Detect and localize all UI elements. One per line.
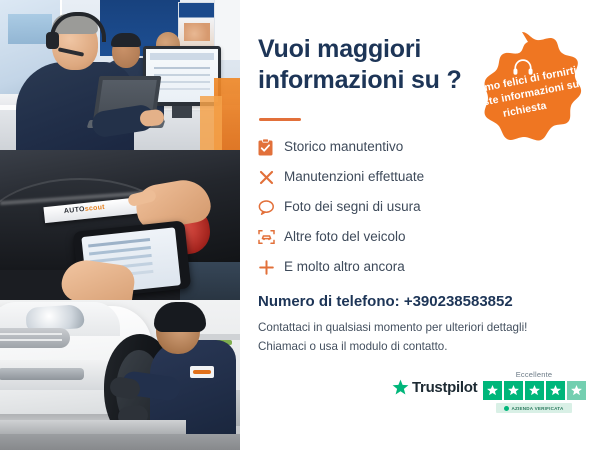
contact-instructions: Contattaci in qualsiasi momento per ulte… — [258, 319, 588, 357]
list-item-label: Foto dei segni di usura — [284, 200, 421, 214]
promo-banner: AUTOscout — [0, 0, 600, 450]
monitor-stand — [172, 106, 192, 118]
list-item: Altre foto del veicolo — [258, 222, 578, 252]
star-partial — [567, 381, 586, 400]
list-item-label: Storico manutentivo — [284, 140, 403, 154]
star-filled — [504, 381, 523, 400]
list-item-label: E molto altro ancora — [284, 260, 405, 274]
strip-brand-text: AUTOscout — [64, 204, 106, 215]
list-item: E molto altro ancora — [258, 252, 578, 282]
list-item-label: Manutenzioni effettuate — [284, 170, 424, 184]
workshop-floor — [0, 434, 240, 450]
scan-vehicle-icon — [258, 229, 284, 245]
list-item: Storico manutentivo — [258, 132, 578, 162]
list-item-label: Altre foto del veicolo — [284, 230, 406, 244]
contact-line-1: Contattaci in qualsiasi momento per ulte… — [258, 319, 588, 338]
plus-icon — [258, 259, 284, 276]
clipboard-check-icon — [258, 139, 284, 156]
list-item: Manutenzioni effettuate — [258, 162, 578, 192]
trustpilot-logo: Trustpilot — [392, 379, 477, 396]
list-item: Foto dei segni di usura — [258, 192, 578, 222]
verified-badge: AZIENDA VERIFICATA — [496, 403, 572, 413]
trustpilot-star-icon — [392, 379, 409, 396]
wall-poster — [178, 2, 216, 52]
trustpilot-wordmark: Trustpilot — [412, 379, 477, 396]
tools-cross-icon — [258, 169, 284, 186]
trustpilot-rating: Eccellente — [480, 370, 588, 413]
uniform-logo — [190, 366, 214, 378]
star-filled — [546, 381, 565, 400]
car-bumper — [0, 360, 118, 390]
star-filled — [483, 381, 502, 400]
feature-list: Storico manutentivo Manutenzioni effettu… — [258, 132, 578, 282]
page-title: Vuoi maggiori informazioni su ? — [258, 34, 473, 95]
speech-bubble-icon — [258, 200, 284, 215]
colleague-hair — [111, 33, 141, 47]
contact-line-2: Chiamaci o usa il modulo di contatto. — [258, 338, 588, 357]
content-panel: Vuoi maggiori informazioni su ? Saremo f… — [240, 0, 600, 450]
verified-label: AZIENDA VERIFICATA — [511, 406, 563, 411]
call-center-photo — [0, 0, 240, 150]
mechanic-hair — [154, 302, 206, 332]
headset-earcup — [46, 32, 59, 49]
star-filled — [525, 381, 544, 400]
trustpilot-widget[interactable]: Trustpilot Eccellente — [392, 370, 592, 422]
verified-check-icon — [504, 406, 509, 411]
vehicle-inspection-photo: AUTOscout — [0, 150, 240, 300]
title-divider — [259, 118, 301, 121]
mechanic-wheel-photo — [0, 300, 240, 450]
car-grille — [0, 328, 70, 348]
orange-equipment-secondary — [200, 96, 222, 150]
star-rating — [480, 381, 588, 400]
phone-number-label[interactable]: Numero di telefono: +390238583852 — [258, 293, 513, 310]
rating-label: Eccellente — [480, 370, 588, 379]
photo-column: AUTOscout — [0, 0, 240, 450]
